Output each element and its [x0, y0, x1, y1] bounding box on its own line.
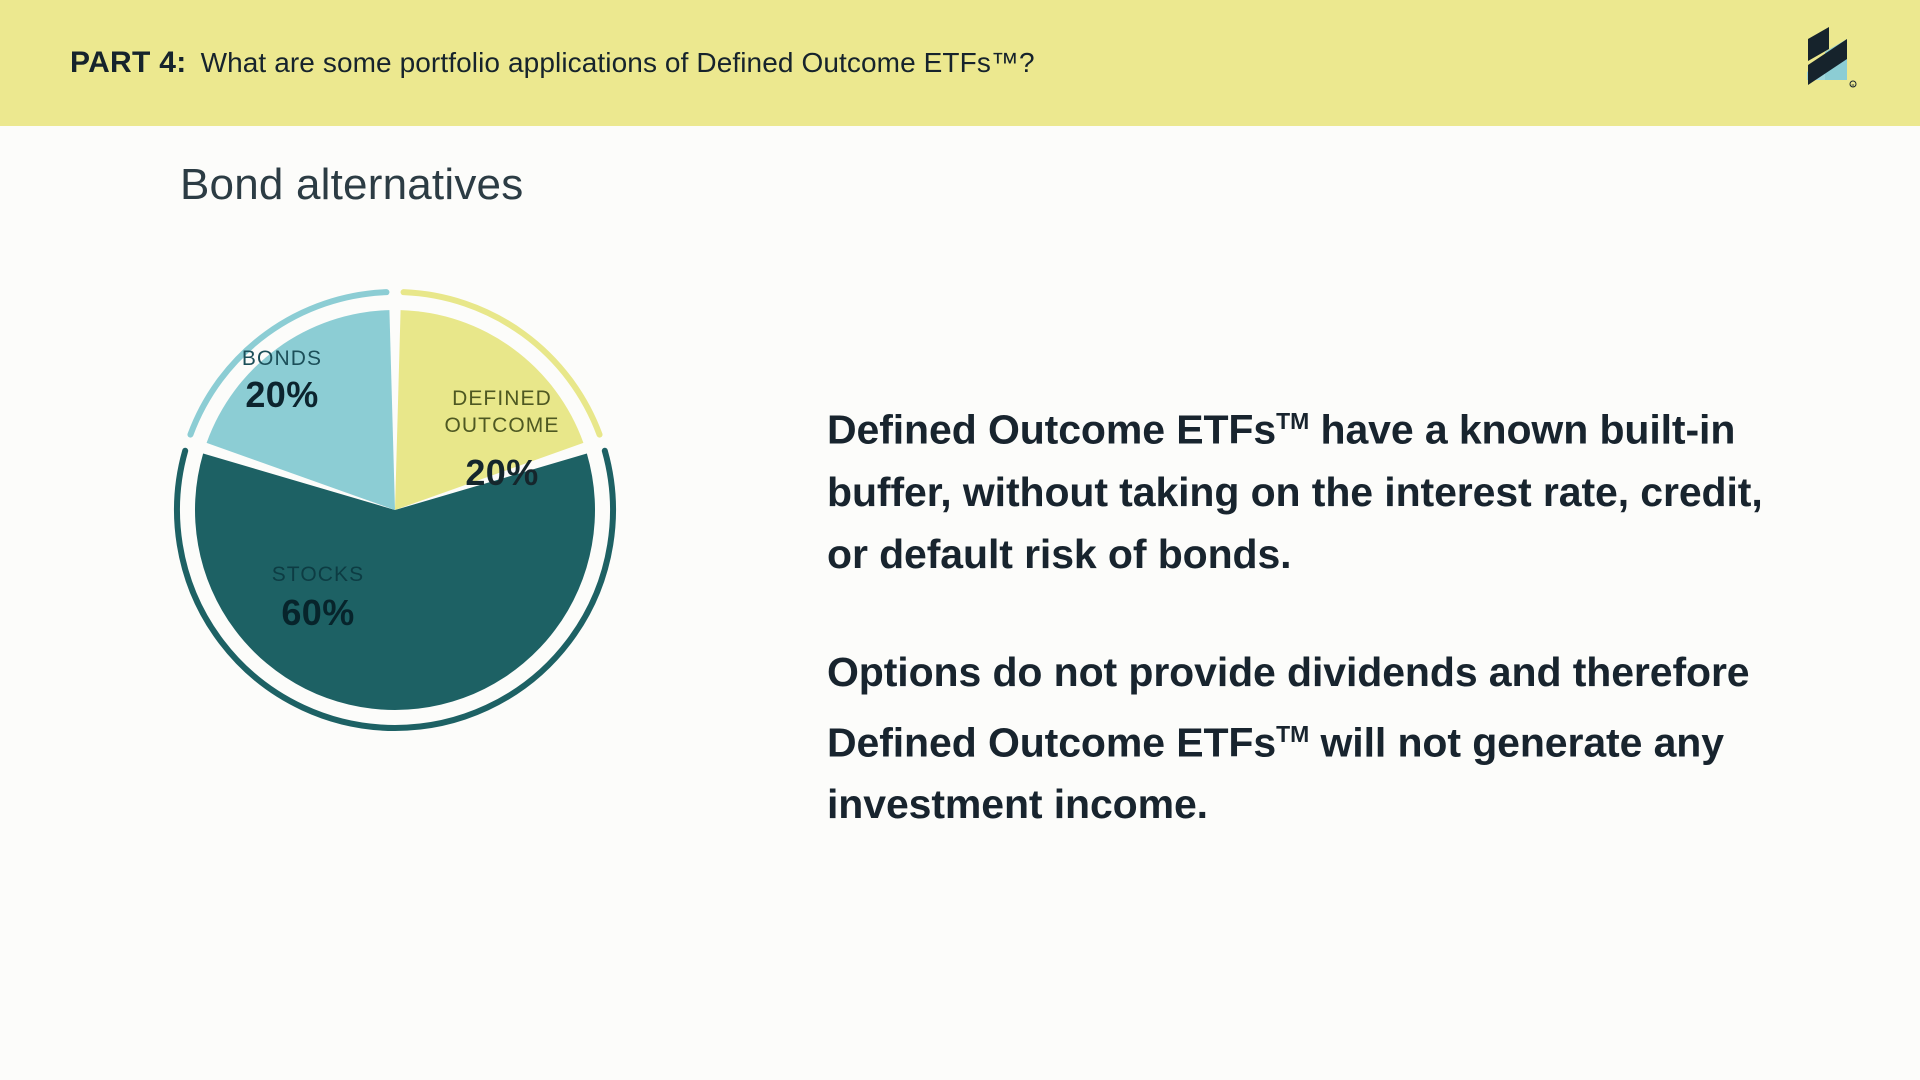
- page-title: Bond alternatives: [180, 160, 523, 210]
- pie-label-bonds-cat: BONDS: [242, 347, 322, 370]
- pie-label-stocks-cat: STOCKS: [272, 563, 365, 586]
- innovator-logo-icon: R: [1795, 22, 1861, 90]
- pie-label-defined-outcome-cat: DEFINED: [452, 387, 552, 410]
- svg-text:R: R: [1852, 83, 1855, 88]
- trademark-symbol: TM: [1276, 408, 1309, 434]
- pie-label-defined-outcome-val: 20%: [465, 452, 538, 493]
- pie-slices-group: [195, 310, 595, 710]
- header-part-label: PART 4:: [70, 46, 187, 80]
- body-paragraph-2: Options do not provide dividends and the…: [827, 641, 1787, 836]
- header-question-text: What are some portfolio applications of …: [201, 47, 1035, 79]
- body-paragraph-1: Defined Outcome ETFsTM have a known buil…: [827, 390, 1787, 585]
- paragraph-1-segment-1: Defined Outcome ETFs: [827, 407, 1276, 453]
- pie-label-defined-outcome-cat: OUTCOME: [444, 414, 559, 437]
- body-copy: Defined Outcome ETFsTM have a known buil…: [827, 390, 1787, 835]
- pie-label-bonds-val: 20%: [245, 374, 318, 415]
- header-title: PART 4: What are some portfolio applicat…: [70, 0, 1035, 126]
- pie-chart: DEFINEDOUTCOME20%STOCKS60%BONDS20%: [70, 255, 630, 785]
- header-band: PART 4: What are some portfolio applicat…: [0, 0, 1920, 126]
- trademark-symbol: TM: [1276, 721, 1309, 747]
- pie-label-stocks-val: 60%: [281, 592, 354, 633]
